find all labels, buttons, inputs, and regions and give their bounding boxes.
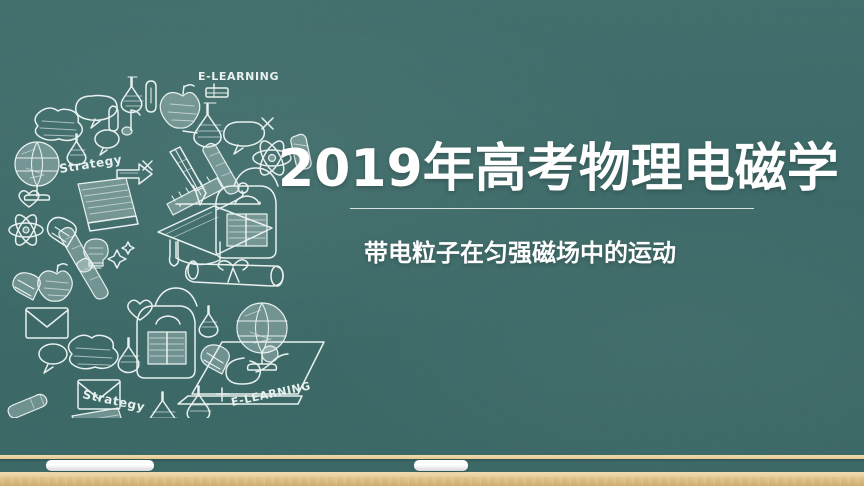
atom-doodle [9,212,43,248]
eraser[interactable] [46,460,154,471]
speech-bubble-doodle [76,96,117,129]
pencil-doodle [8,394,47,418]
heart-doodle [128,300,152,320]
star-doodle [108,250,126,268]
lightbulb-doodle [201,345,229,374]
star-doodle [122,242,134,254]
flask-doodle [199,306,218,337]
ruler-doodle [167,177,223,215]
flask-doodle [121,77,143,113]
apple-doodle [160,85,200,128]
music-note-doodle [122,110,140,135]
speech-bubble-doodle [95,130,119,155]
cross-doodle [216,388,229,401]
chalk-stick[interactable] [414,460,468,471]
slide-canvas: E-LEARNING [0,0,864,486]
chalk-tray [0,455,864,486]
page-title: 2019年高考物理电磁学 [278,140,844,198]
flask-doodle [149,392,177,418]
tray-wood-grain [0,477,864,486]
envelope-doodle [26,308,68,338]
diploma-scroll-doodle [186,260,283,286]
page-subtitle: 带电粒子在匀强磁场中的运动 [364,239,844,268]
doodle-label-elearning: E-LEARNING [198,70,279,83]
globe-doodle [237,303,287,370]
heart-doodle [19,191,39,207]
tray-front-ledge [0,477,864,486]
doodle-label-elearning: E-LEARNING [230,379,312,409]
apple-doodle [38,264,73,301]
doodle-illustration: E-LEARNING [0,18,320,418]
flask-doodle [187,386,211,418]
cloud-doodle [68,335,118,369]
speech-bubble-doodle [224,122,265,154]
title-block: 2019年高考物理电磁学 带电粒子在匀强磁场中的运动 [278,140,844,268]
cross-doodle [183,131,197,133]
paperclip-doodle [146,81,156,112]
cloud-doodle [35,108,82,140]
speech-bubble-doodle [39,344,67,373]
cross-doodle [262,118,273,129]
book-doodle [78,178,138,231]
backpack-doodle [137,288,197,378]
book-doodle [206,84,228,97]
lightbulb-doodle [13,273,40,300]
title-divider [350,208,754,209]
